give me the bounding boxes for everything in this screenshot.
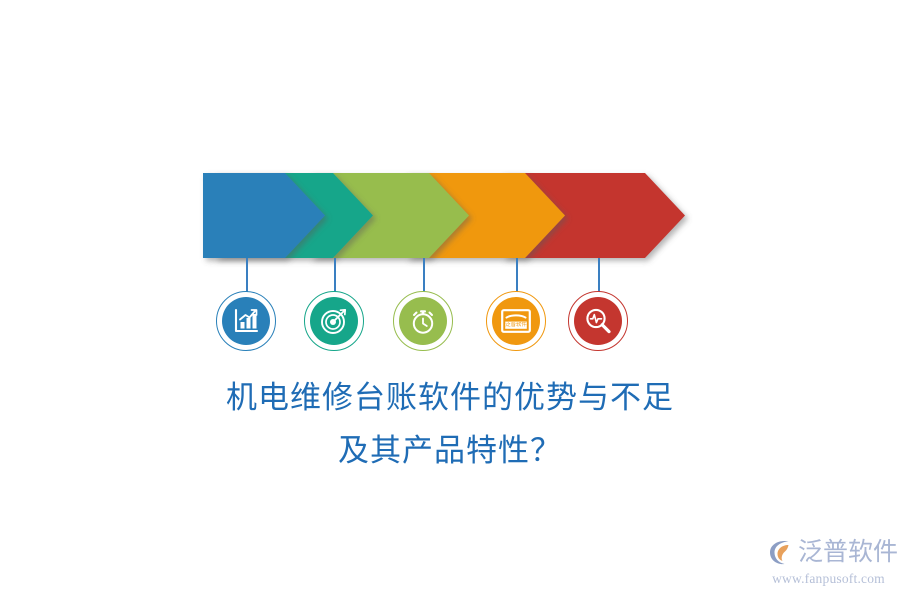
- fanpu-logo-mark: [766, 537, 796, 567]
- connector-line-5: [598, 258, 600, 292]
- page-title: 机电维修台账软件的优势与不足 及其产品特性？: [0, 372, 900, 478]
- connector-line-2: [334, 258, 336, 292]
- bar-chart-growth-icon: [232, 307, 260, 335]
- icon-node-1[interactable]: [216, 291, 276, 351]
- target-bullseye-icon: [320, 307, 348, 335]
- logo-row: 泛普软件: [766, 534, 891, 570]
- brand-logo-watermark: 泛普软件 www.fanpusoft.com: [766, 534, 891, 590]
- presentation-board-icon: 泛普软件: [501, 309, 531, 333]
- connector-line-3: [423, 258, 425, 292]
- title-line-2: 及其产品特性？: [0, 425, 900, 478]
- logo-url: www.fanpusoft.com: [766, 571, 891, 587]
- connector-line-4: [516, 258, 518, 292]
- icon-disc-3: [399, 297, 447, 345]
- icon-node-3[interactable]: [393, 291, 453, 351]
- connector-line-1: [246, 258, 248, 292]
- title-line-1: 机电维修台账软件的优势与不足: [0, 372, 900, 425]
- chevron-process-banner: [203, 173, 685, 258]
- icon-node-5[interactable]: [568, 291, 628, 351]
- icon-disc-5: [574, 297, 622, 345]
- icon-disc-4: 泛普软件: [492, 297, 540, 345]
- icon-disc-1: [222, 297, 270, 345]
- stopwatch-icon: [409, 307, 437, 335]
- slide-canvas: 泛普软件 机电维修台账软件的优势与不足 及其产品特性？: [0, 0, 900, 600]
- presentation-board-brand-text: 泛普软件: [505, 322, 527, 329]
- magnifier-analysis-icon: [584, 307, 612, 335]
- icon-node-4[interactable]: 泛普软件: [486, 291, 546, 351]
- icon-node-2[interactable]: [304, 291, 364, 351]
- logo-wordmark: 泛普软件: [798, 537, 898, 567]
- icon-disc-2: [310, 297, 358, 345]
